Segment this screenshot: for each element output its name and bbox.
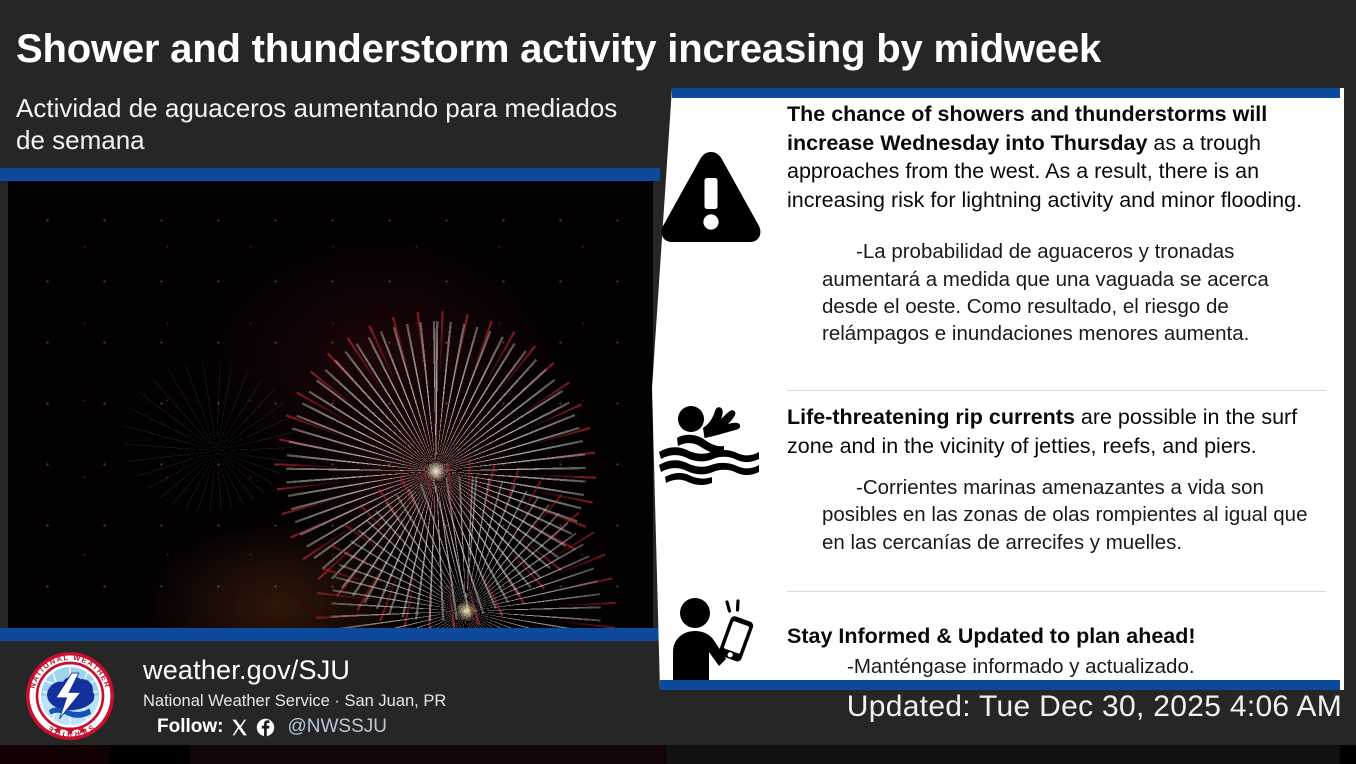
section-thunderstorm-text-en: The chance of showers and thunderstorms …: [787, 100, 1326, 214]
office-name: National Weather Service · San Juan, PR: [143, 692, 446, 711]
reflection-photo: [190, 745, 665, 764]
accent-rule-left-top: [0, 168, 660, 181]
weather-graphic: The chance of showers and thunderstorms …: [0, 0, 1356, 764]
section-stay-informed-text-en: Stay Informed & Updated to plan ahead!: [787, 592, 1326, 651]
social-handle[interactable]: @NWSSJU: [287, 716, 387, 738]
person-with-phone-icon: [651, 594, 771, 682]
section-stay-informed-text-es: -Manténgase informado y actualizado.: [787, 653, 1326, 680]
bottom-reflection-strip: [0, 745, 1356, 764]
info-panel: The chance of showers and thunderstorms …: [640, 88, 1344, 690]
follow-row: Follow: @NWSSJU: [157, 716, 387, 738]
reflection-panel: [666, 745, 1340, 764]
x-twitter-icon[interactable]: [230, 718, 249, 737]
reflection-left: [0, 745, 110, 764]
accent-rule-panel-bottom: [660, 680, 1340, 690]
fireworks-photo: [8, 181, 653, 628]
rip-current-swimmer-icon: [651, 399, 771, 491]
follow-label: Follow:: [157, 716, 223, 738]
info-panel-content: The chance of showers and thunderstorms …: [640, 88, 1344, 690]
section-rip-currents-text-en: Life-threatening rip currents are possib…: [787, 391, 1326, 460]
national-weather-service-logo: NATIONAL WEATHER SERVICE: [26, 652, 114, 740]
accent-rule-panel-top: [672, 88, 1340, 98]
facebook-icon[interactable]: [256, 718, 275, 737]
accent-rule-left-bottom: [0, 628, 660, 641]
warning-triangle-icon: [651, 142, 771, 252]
website-url[interactable]: weather.gov/SJU: [143, 655, 350, 686]
section-rip-currents-text-es: -Corrientes marinas amenazantes a vida s…: [787, 474, 1326, 556]
section-thunderstorm-text-es: -La probabilidad de aguaceros y tronadas…: [787, 238, 1326, 347]
ember-sparks: [8, 181, 653, 628]
updated-timestamp: Updated: Tue Dec 30, 2025 4:06 AM: [847, 690, 1342, 724]
header-block: [0, 0, 678, 168]
section-rip-currents: Life-threatening rip currents are possib…: [787, 391, 1326, 592]
section-thunderstorm: The chance of showers and thunderstorms …: [787, 100, 1326, 391]
section-rip-currents-text-bold: Life-threatening rip currents: [787, 405, 1075, 429]
